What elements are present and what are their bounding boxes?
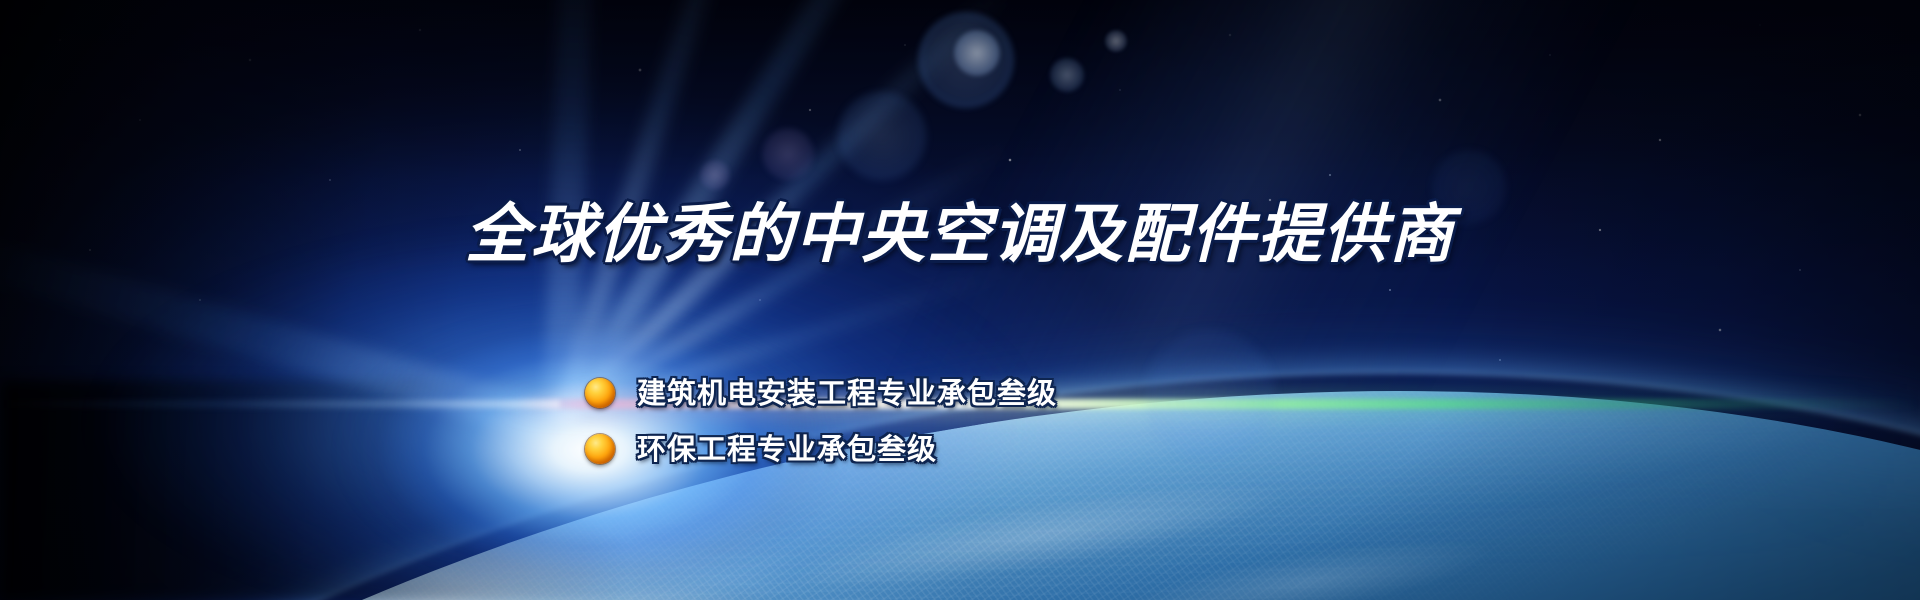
list-item: 建筑机电安装工程专业承包叁级 (585, 365, 1057, 421)
banner-qualification-list: 建筑机电安装工程专业承包叁级 环保工程专业承包叁级 (585, 365, 1057, 477)
banner-headline: 全球优秀的中央空调及配件提供商 (0, 203, 1920, 267)
qualification-label-2: 环保工程专业承包叁级 (637, 435, 937, 464)
list-item: 环保工程专业承包叁级 (585, 421, 1057, 477)
banner-content: 全球优秀的中央空调及配件提供商 建筑机电安装工程专业承包叁级 环保工程专业承包叁… (0, 0, 1920, 600)
orange-bullet-dot-icon (585, 378, 615, 408)
qualification-label-1: 建筑机电安装工程专业承包叁级 (637, 379, 1057, 408)
orange-bullet-dot-icon (585, 434, 615, 464)
hero-banner: 全球优秀的中央空调及配件提供商 建筑机电安装工程专业承包叁级 环保工程专业承包叁… (0, 0, 1920, 600)
